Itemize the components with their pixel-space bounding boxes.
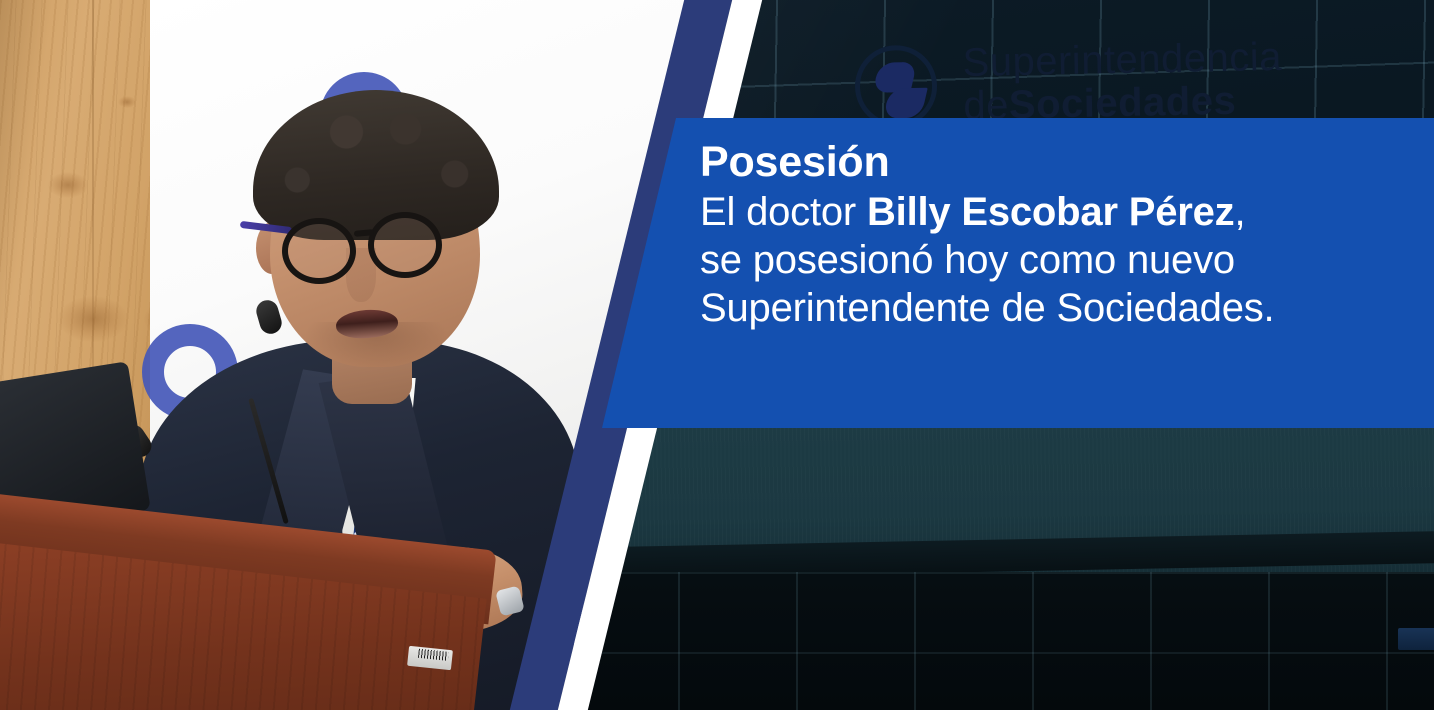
headline-person-name: Billy Escobar Pérez bbox=[867, 190, 1235, 234]
superintendencia-s-mark-icon bbox=[854, 45, 938, 129]
headline-line-1: El doctor Billy Escobar Pérez, bbox=[700, 188, 1410, 236]
glasses-lens-right-icon bbox=[368, 212, 442, 278]
headline-line-1-suffix: , bbox=[1234, 190, 1245, 234]
building-sign-text: Superintendencia deSociedades bbox=[962, 36, 1283, 128]
headline-line-3: Superintendente de Sociedades. bbox=[700, 284, 1410, 332]
entrance-glazing bbox=[560, 572, 1434, 710]
building-logo-lockup: Superintendencia deSociedades bbox=[854, 36, 1283, 131]
entrance-info-placard bbox=[1398, 628, 1434, 650]
wood-knot bbox=[48, 172, 88, 198]
wood-knot bbox=[58, 296, 128, 342]
headline-kicker: Posesión bbox=[700, 140, 1410, 186]
building-sign-line-1: Superintendencia bbox=[962, 36, 1282, 85]
s-mark-lower-leaf bbox=[883, 88, 928, 119]
headline-line-2: se posesionó hoy como nuevo bbox=[700, 236, 1410, 284]
hair bbox=[253, 90, 499, 240]
headline-line-1-prefix: El doctor bbox=[700, 190, 867, 234]
headline-body: El doctor Billy Escobar Pérez, se posesi… bbox=[700, 188, 1410, 332]
headline-banner-text: Posesión El doctor Billy Escobar Pérez, … bbox=[700, 140, 1410, 332]
barcode-icon bbox=[418, 649, 449, 661]
glasses-lens-left-icon bbox=[282, 218, 356, 284]
headline-banner: Posesión El doctor Billy Escobar Pérez, … bbox=[596, 118, 1434, 428]
promo-banner-image: DENCIA ADES bbox=[0, 0, 1434, 710]
